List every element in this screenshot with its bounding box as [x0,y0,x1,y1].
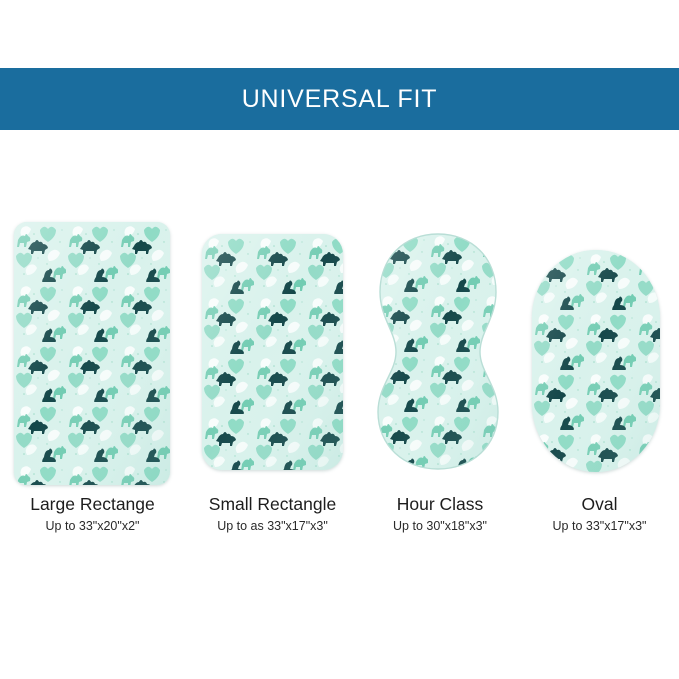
dinosaur-fabric-swatch [532,250,660,472]
product-cell-oval [520,215,679,485]
product-label-large-rectangle: Large Rectange Up to 33"x20"x2" [0,493,185,536]
dinosaur-fabric-swatch [376,232,500,471]
product-name: Large Rectange [0,493,185,515]
product-shapes-row [0,215,679,485]
product-dimensions: Up to 33"x20"x2" [0,517,185,536]
product-dimensions: Up to 30"x18"x3" [360,517,520,536]
product-label-hour-class: Hour Class Up to 30"x18"x3" [360,493,520,536]
product-label-oval: Oval Up to 33"x17"x3" [520,493,679,536]
product-name: Hour Class [360,493,520,515]
shape-oval [532,250,660,472]
infographic-page: UNIVERSAL FIT [0,0,679,679]
product-dimensions: Up to 33"x17"x3" [520,517,679,536]
product-name: Small Rectangle [185,493,360,515]
product-cell-hour-class [360,215,520,485]
shape-hour-class [376,232,500,471]
shape-large-rectangle [14,222,170,485]
dinosaur-fabric-swatch [202,234,343,470]
product-dimensions: Up to as 33"x17"x3" [185,517,360,536]
universal-fit-banner: UNIVERSAL FIT [0,68,679,130]
dinosaur-fabric-swatch [14,222,170,485]
shape-small-rectangle [202,234,343,470]
product-label-small-rectangle: Small Rectangle Up to as 33"x17"x3" [185,493,360,536]
product-cell-small-rectangle [185,215,360,485]
product-name: Oval [520,493,679,515]
banner-title: UNIVERSAL FIT [242,85,438,114]
product-cell-large-rectangle [0,215,185,485]
